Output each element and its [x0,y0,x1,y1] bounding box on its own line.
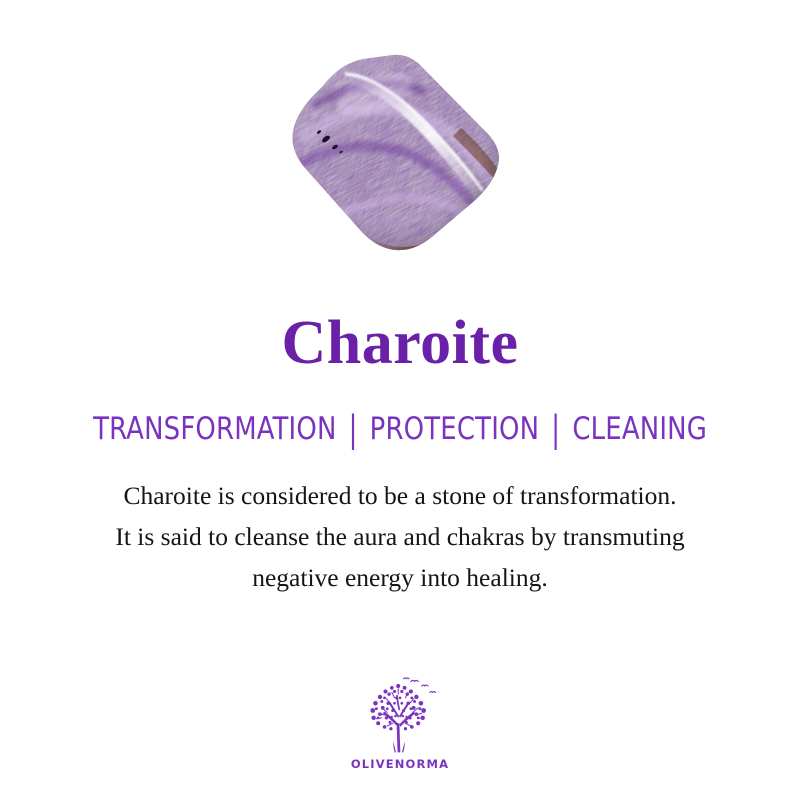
keyword-separator: | [539,412,572,449]
birds-icon [404,678,436,692]
tree-of-life-icon [354,676,446,756]
keyword-transformation: TRANSFORMATION [93,414,336,445]
keyword-separator: | [336,412,369,449]
brand-wordmark: OLIVENORMA [351,757,449,771]
charoite-info-card: Charoite TRANSFORMATION|PROTECTION|CLEAN… [0,0,800,799]
keyword-cleaning: CLEANING [572,414,707,445]
charoite-stone-svg [283,48,511,258]
stone-image-area [0,0,800,300]
description-line: Charoite is considered to be a stone of … [115,475,684,516]
keyword-protection: PROTECTION [370,414,540,445]
brand-logo: OLIVENORMA [0,676,800,771]
description-line: It is said to cleanse the aura and chakr… [115,516,684,557]
charoite-stone-image [283,48,511,258]
page-title: Charoite [281,300,518,374]
keyword-list: TRANSFORMATION|PROTECTION|CLEANING [93,374,707,445]
description-line: negative energy into healing. [115,557,684,598]
description-text: Charoite is considered to be a stone of … [115,445,684,598]
